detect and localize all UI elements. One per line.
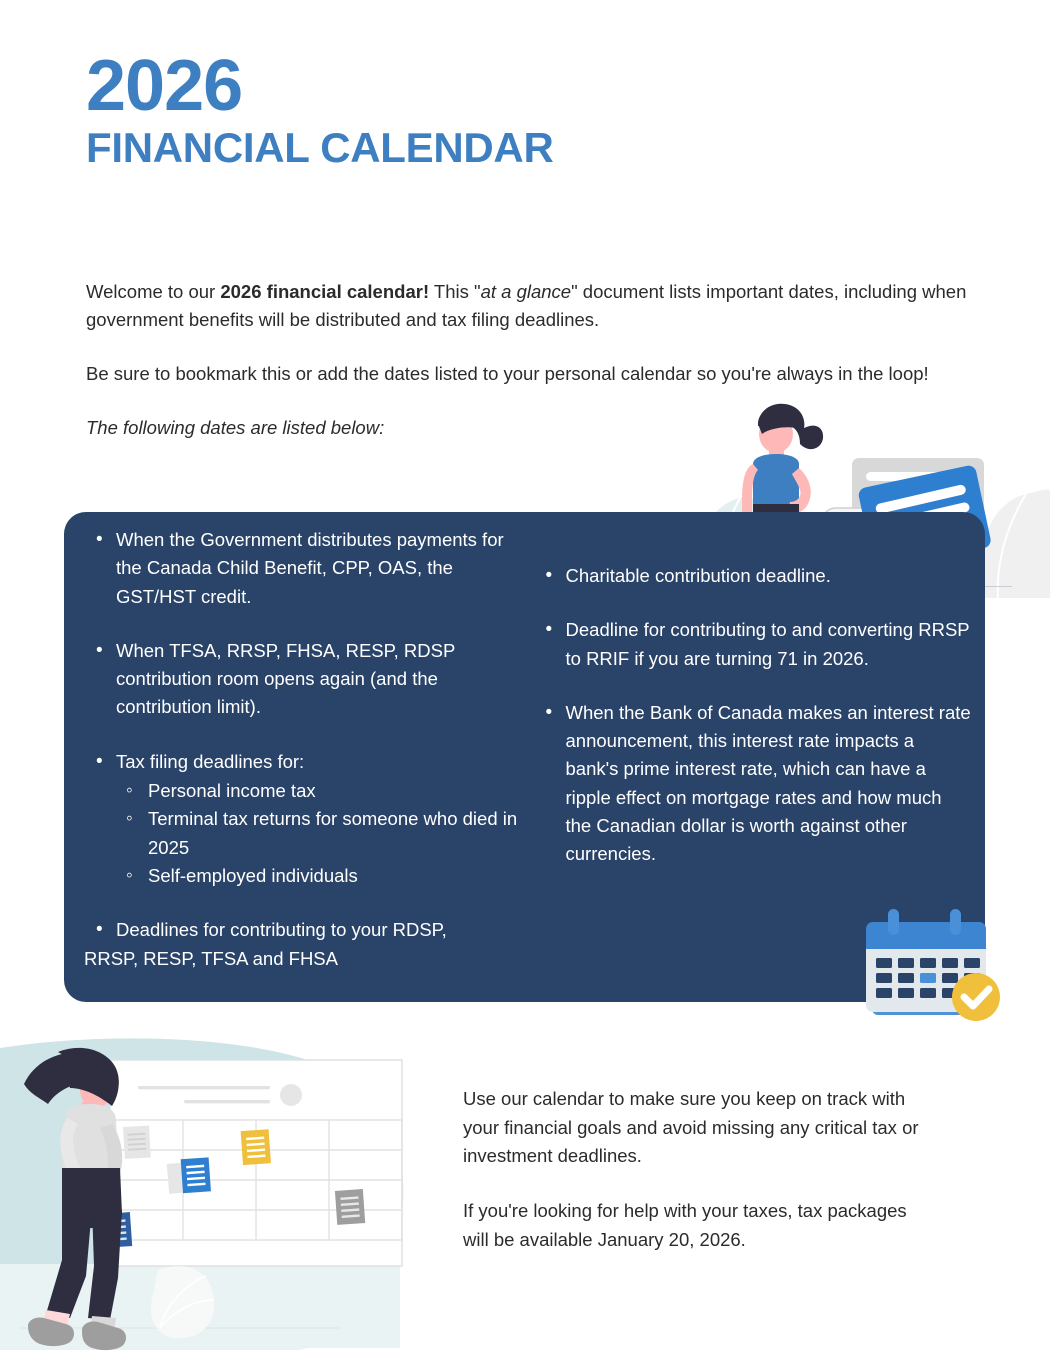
intro-paragraph-1: Welcome to our 2026 financial calendar! … <box>86 278 976 334</box>
list-item-label: Tax filing deadlines for: <box>116 751 304 772</box>
check-badge-circle <box>952 973 1000 1021</box>
list-item-label: Deadline for contributing to and convert… <box>566 619 970 668</box>
list-item: Deadlines for contributing to your RDSP,… <box>84 916 522 973</box>
intro-p1-part-b: This " <box>429 281 480 302</box>
list-item-label: Charitable contribution deadline. <box>566 565 831 586</box>
list-item: Tax filing deadlines for: Personal incom… <box>84 748 522 890</box>
sub-list-item: Terminal tax returns for someone who die… <box>116 805 522 862</box>
list-item: Charitable contribution deadline. <box>534 562 972 590</box>
list-item: When TFSA, RRSP, FHSA, RESP, RDSP contri… <box>84 637 522 722</box>
list-item-label-line2: RRSP, RESP, TFSA and FHSA <box>84 945 522 973</box>
woman-at-calendar-board-illustration <box>0 1038 440 1359</box>
page-title-year: 2026 <box>86 52 886 120</box>
page-title: FINANCIAL CALENDAR <box>86 124 886 172</box>
tax-filing-sublist: Personal income tax Terminal tax returns… <box>116 777 522 890</box>
intro-paragraph-2: Be sure to bookmark this or add the date… <box>86 360 976 388</box>
list-item-label: Deadlines for contributing to your RDSP, <box>116 919 447 940</box>
list-item: When the Government distributes payments… <box>84 526 522 611</box>
sub-list-item-label: Terminal tax returns for someone who die… <box>148 808 517 857</box>
list-item-label: When TFSA, RRSP, FHSA, RESP, RDSP contri… <box>116 640 455 718</box>
page-header: 2026 FINANCIAL CALENDAR <box>86 52 886 173</box>
intro-p1-bold: 2026 financial calendar! <box>220 281 429 302</box>
dates-callout-box: When the Government distributes payments… <box>64 512 985 1002</box>
outro-paragraph-1: Use our calendar to make sure you keep o… <box>463 1085 933 1171</box>
financial-calendar-page: 2026 FINANCIAL CALENDAR <box>0 0 1050 1359</box>
sub-list-item-label: Self-employed individuals <box>148 865 358 886</box>
list-item: Deadline for contributing to and convert… <box>534 616 972 673</box>
list-item-label: When the Bank of Canada makes an interes… <box>566 702 971 864</box>
intro-p1-italic: at a glance <box>481 281 572 302</box>
outro-paragraph-2: If you're looking for help with your tax… <box>463 1197 933 1254</box>
intro-p1-part-a: Welcome to our <box>86 281 220 302</box>
calendar-check-icon <box>858 905 1008 1025</box>
outro-text-block: Use our calendar to make sure you keep o… <box>463 1085 933 1254</box>
list-item: When the Bank of Canada makes an interes… <box>534 699 972 869</box>
callout-right-list: Charitable contribution deadline. Deadli… <box>534 562 972 869</box>
callout-left-column: When the Government distributes payments… <box>78 526 528 988</box>
list-item-label: When the Government distributes payments… <box>116 529 504 607</box>
sub-list-item: Personal income tax <box>116 777 522 805</box>
sub-list-item: Self-employed individuals <box>116 862 522 890</box>
sub-list-item-label: Personal income tax <box>148 780 316 801</box>
callout-left-list: When the Government distributes payments… <box>84 526 522 973</box>
